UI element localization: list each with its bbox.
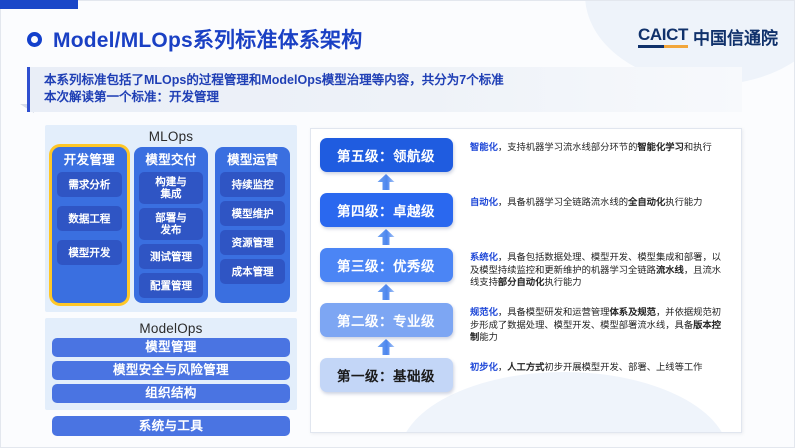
modelops-bar[interactable]: 模型管理 <box>52 338 290 357</box>
mlops-item[interactable]: 部署与发布 <box>139 208 204 240</box>
logo-underline <box>638 45 688 48</box>
architecture-diagram: MLOps 开发管理需求分析数据工程模型开发模型交付构建与集成部署与发布测试管理… <box>45 125 297 435</box>
mlops-item[interactable]: 模型开发 <box>57 240 122 265</box>
mlops-column-3[interactable]: 模型运营持续监控模型维护资源管理成本管理 <box>215 147 290 303</box>
mlops-item[interactable]: 构建与集成 <box>139 172 204 204</box>
level-description: 初步化，人工方式初步开展模型开发、部署、上线等工作 <box>461 358 741 374</box>
level-description: 智能化，支持机器学习流水线部分环节的智能化学习和执行 <box>461 138 741 154</box>
maturity-levels-list: 第五级：领航级智能化，支持机器学习流水线部分环节的智能化学习和执行第四级：卓越级… <box>311 129 741 413</box>
maturity-level-row: 第四级：卓越级自动化，具备机器学习全链路流水线的全自动化执行能力 <box>311 193 741 248</box>
level-description: 自动化，具备机器学习全链路流水线的全自动化执行能力 <box>461 193 741 209</box>
level-box-wrap: 第二级：专业级 <box>311 303 461 337</box>
arrow-up-icon <box>378 229 395 245</box>
maturity-level-row: 第二级：专业级规范化，具备模型研发和运营管理体系及规范，并依据规范初步形成了数据… <box>311 303 741 358</box>
system-tools-bar: 系统与工具 <box>52 416 290 436</box>
arrow-up-icon <box>378 339 395 355</box>
mlops-column-items: 需求分析数据工程模型开发 <box>57 172 122 265</box>
page-title: Model/MLOps系列标准体系架构 <box>53 24 362 54</box>
level-description: 系统化，具备包括数据处理、模型开发、模型集成和部署，以及模型持续监控和更新维护的… <box>461 248 741 289</box>
subtitle-banner: 本系列标准包括了MLOps的过程管理和ModelOps模型治理等内容，共分为7个… <box>27 67 742 112</box>
logo-underline-orange <box>664 45 688 48</box>
maturity-level-row: 第三级：优秀级系统化，具备包括数据处理、模型开发、模型集成和部署，以及模型持续监… <box>311 248 741 303</box>
mlops-item[interactable]: 需求分析 <box>57 172 122 197</box>
mlops-column-title: 模型运营 <box>220 151 285 170</box>
logo-mark-group: CAICT <box>638 26 688 48</box>
mlops-item[interactable]: 成本管理 <box>220 259 285 284</box>
level-badge[interactable]: 第四级：卓越级 <box>320 193 453 227</box>
modelops-heading: ModelOps <box>52 320 290 337</box>
mlops-block: MLOps 开发管理需求分析数据工程模型开发模型交付构建与集成部署与发布测试管理… <box>45 125 297 312</box>
level-box-wrap: 第三级：优秀级 <box>311 248 461 282</box>
mlops-column-1[interactable]: 开发管理需求分析数据工程模型开发 <box>52 147 127 303</box>
mlops-heading: MLOps <box>52 128 290 145</box>
level-description: 规范化，具备模型研发和运营管理体系及规范，并依据规范初步形成了数据处理、模型开发… <box>461 303 741 344</box>
mlops-item[interactable]: 持续监控 <box>220 172 285 197</box>
title-row: Model/MLOps系列标准体系架构 <box>27 24 362 54</box>
maturity-level-row: 第五级：领航级智能化，支持机器学习流水线部分环节的智能化学习和执行 <box>311 138 741 193</box>
mlops-item[interactable]: 配置管理 <box>139 273 204 298</box>
mlops-column-title: 开发管理 <box>57 151 122 170</box>
caict-logo: CAICT 中国信通院 <box>638 26 778 48</box>
slide-canvas: Model/MLOps系列标准体系架构 CAICT 中国信通院 本系列标准包括了… <box>0 0 795 448</box>
logo-underline-blue <box>638 45 664 48</box>
level-badge[interactable]: 第五级：领航级 <box>320 138 453 172</box>
level-box-wrap: 第五级：领航级 <box>311 138 461 172</box>
modelops-bars: 模型管理模型安全与风险管理组织结构 <box>52 338 290 403</box>
level-badge[interactable]: 第三级：优秀级 <box>320 248 453 282</box>
mlops-item[interactable]: 模型维护 <box>220 201 285 226</box>
mlops-columns: 开发管理需求分析数据工程模型开发模型交付构建与集成部署与发布测试管理配置管理模型… <box>52 147 290 303</box>
logo-mark-text: CAICT <box>638 26 688 43</box>
subtitle-line-1: 本系列标准包括了MLOps的过程管理和ModelOps模型治理等内容，共分为7个… <box>44 72 742 89</box>
mlops-item[interactable]: 资源管理 <box>220 230 285 255</box>
modelops-bar[interactable]: 模型安全与风险管理 <box>52 361 290 380</box>
level-badge[interactable]: 第二级：专业级 <box>320 303 453 337</box>
modelops-block: ModelOps 模型管理模型安全与风险管理组织结构 <box>45 318 297 410</box>
mlops-item[interactable]: 测试管理 <box>139 244 204 269</box>
mlops-column-items: 持续监控模型维护资源管理成本管理 <box>220 172 285 284</box>
mlops-item[interactable]: 数据工程 <box>57 206 122 231</box>
level-badge[interactable]: 第一级：基础级 <box>320 358 453 392</box>
modelops-bar[interactable]: 组织结构 <box>52 384 290 403</box>
maturity-levels-panel: 第五级：领航级智能化，支持机器学习流水线部分环节的智能化学习和执行第四级：卓越级… <box>310 128 742 433</box>
subtitle-line-2: 本次解读第一个标准：开发管理 <box>44 89 742 106</box>
slide-header: Model/MLOps系列标准体系架构 CAICT 中国信通院 <box>0 9 795 65</box>
mlops-column-items: 构建与集成部署与发布测试管理配置管理 <box>139 172 204 298</box>
mlops-column-title: 模型交付 <box>139 151 204 170</box>
mlops-column-2[interactable]: 模型交付构建与集成部署与发布测试管理配置管理 <box>134 147 209 303</box>
arrow-up-icon <box>378 174 395 190</box>
top-left-accent-bar <box>0 0 78 9</box>
arrow-up-icon <box>378 284 395 300</box>
ring-icon <box>27 32 42 47</box>
level-box-wrap: 第四级：卓越级 <box>311 193 461 227</box>
maturity-level-row: 第一级：基础级初步化，人工方式初步开展模型开发、部署、上线等工作 <box>311 358 741 413</box>
level-box-wrap: 第一级：基础级 <box>311 358 461 392</box>
logo-chinese-name: 中国信通院 <box>693 30 778 48</box>
